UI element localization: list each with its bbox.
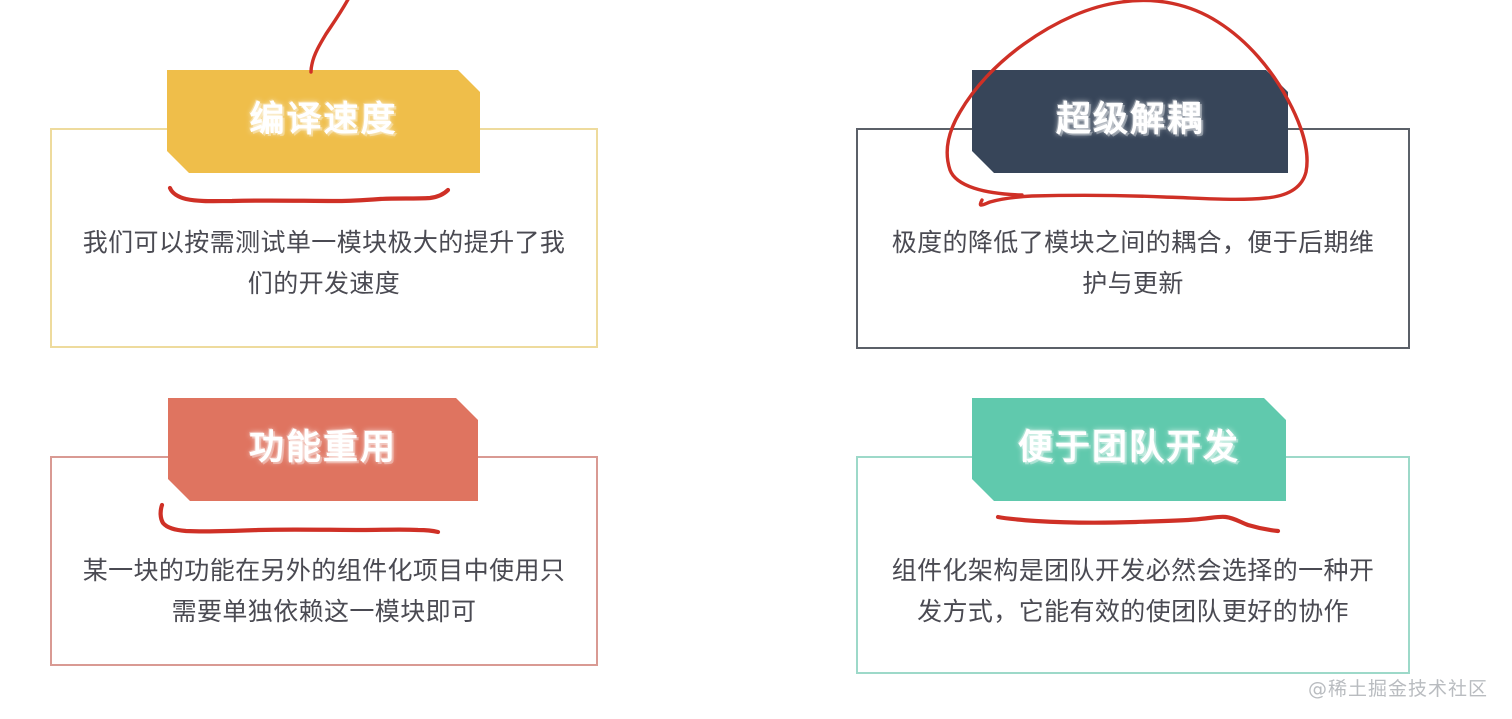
slide-canvas: 编译速度 我们可以按需测试单一模块极大的提升了我们的开发速度 超级解耦 极度的降… [0, 0, 1512, 719]
card-feature-reuse[interactable]: 功能重用 某一块的功能在另外的组件化项目中使用只需要单独依赖这一模块即可 [50, 398, 598, 666]
watermark: @稀土掘金技术社区 [1308, 674, 1488, 701]
card-body-decoupling: 极度的降低了模块之间的耦合，便于后期维护与更新 [882, 224, 1384, 305]
card-body-compile-speed: 我们可以按需测试单一模块极大的提升了我们的开发速度 [76, 224, 572, 305]
card-title-decoupling: 超级解耦 [1056, 103, 1204, 140]
card-banner-decoupling: 超级解耦 [972, 70, 1288, 173]
card-decoupling[interactable]: 超级解耦 极度的降低了模块之间的耦合，便于后期维护与更新 [856, 70, 1410, 349]
red-curve-top-left-icon [311, 0, 352, 72]
card-title-feature-reuse: 功能重用 [249, 431, 397, 468]
card-title-team-dev: 便于团队开发 [1018, 431, 1240, 468]
card-body-team-dev: 组件化架构是团队开发必然会选择的一种开发方式，它能有效的使团队更好的协作 [882, 552, 1384, 633]
card-banner-team-dev: 便于团队开发 [972, 398, 1286, 501]
card-compile-speed[interactable]: 编译速度 我们可以按需测试单一模块极大的提升了我们的开发速度 [50, 70, 598, 348]
card-team-dev[interactable]: 便于团队开发 组件化架构是团队开发必然会选择的一种开发方式，它能有效的使团队更好… [856, 398, 1410, 674]
card-banner-compile-speed: 编译速度 [167, 70, 480, 173]
card-body-feature-reuse: 某一块的功能在另外的组件化项目中使用只需要单独依赖这一模块即可 [76, 552, 572, 633]
card-banner-feature-reuse: 功能重用 [168, 398, 478, 501]
card-title-compile-speed: 编译速度 [249, 103, 397, 140]
